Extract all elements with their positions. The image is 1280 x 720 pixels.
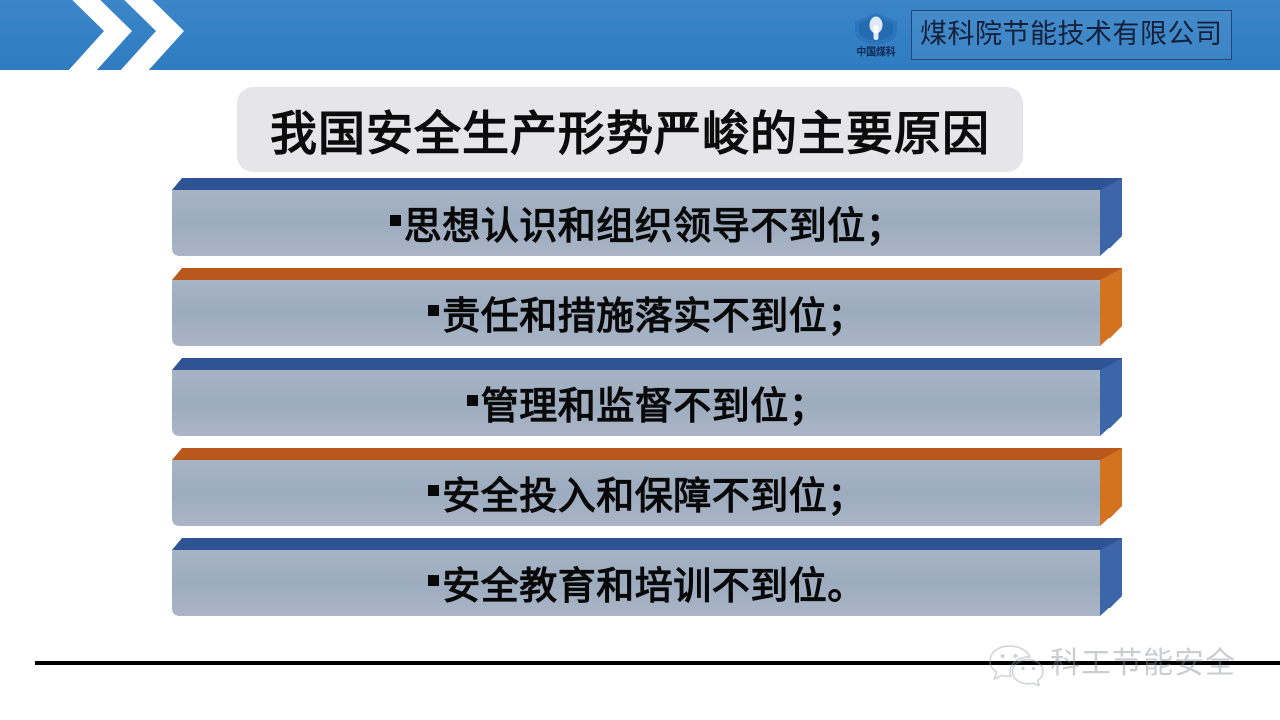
square-bullet-icon [428, 305, 439, 316]
company-name-box: 煤科院节能技术有限公司 [911, 10, 1232, 60]
square-bullet-icon [390, 215, 401, 226]
bullet-bar[interactable]: 思想认识和组织领导不到位； [172, 178, 1122, 256]
logo-caption: 中国煤科 [856, 47, 895, 58]
bar-label-text: 管理和监督不到位； [481, 375, 828, 430]
brand-block: 中国煤科 煤科院节能技术有限公司 [845, 4, 1232, 66]
bar-label-text: 安全投入和保障不到位； [442, 465, 866, 520]
bullet-bar-list: 思想认识和组织领导不到位； [0, 178, 1280, 628]
bullet-bar[interactable]: 责任和措施落实不到位； [172, 268, 1122, 346]
bar-label-text: 责任和措施落实不到位； [442, 285, 866, 340]
company-name: 煤科院节能技术有限公司 [920, 21, 1223, 48]
bullet-bar[interactable]: 安全教育和培训不到位。 [172, 538, 1122, 616]
bar-label-text: 安全教育和培训不到位。 [442, 555, 866, 610]
zhongguo-meike-logo-icon: 中国煤科 [845, 5, 907, 65]
bar-label-wrapper: 安全教育和培训不到位。 [172, 548, 1122, 616]
bar-label-wrapper: 思想认识和组织领导不到位； [172, 188, 1122, 256]
chevron-right-icon-2 [104, 0, 190, 70]
wechat-icon [988, 642, 1044, 686]
bar-label-wrapper: 管理和监督不到位； [172, 368, 1122, 436]
watermark: 科工节能安全 [988, 636, 1236, 692]
square-bullet-icon [467, 395, 478, 406]
bar-label-wrapper: 安全投入和保障不到位； [172, 458, 1122, 526]
slide-canvas: 中国煤科 煤科院节能技术有限公司 我国安全生产形势严峻的主要原因 [0, 0, 1280, 720]
header-band: 中国煤科 煤科院节能技术有限公司 [0, 0, 1280, 70]
square-bullet-icon [428, 485, 439, 496]
bar-label-text: 思想认识和组织领导不到位； [404, 195, 905, 250]
watermark-text: 科工节能安全 [1050, 649, 1236, 679]
bar-label-wrapper: 责任和措施落实不到位； [172, 278, 1122, 346]
page-title: 我国安全生产形势严峻的主要原因 [237, 87, 1023, 172]
bullet-bar[interactable]: 管理和监督不到位； [172, 358, 1122, 436]
square-bullet-icon [428, 575, 439, 586]
bullet-bar[interactable]: 安全投入和保障不到位； [172, 448, 1122, 526]
